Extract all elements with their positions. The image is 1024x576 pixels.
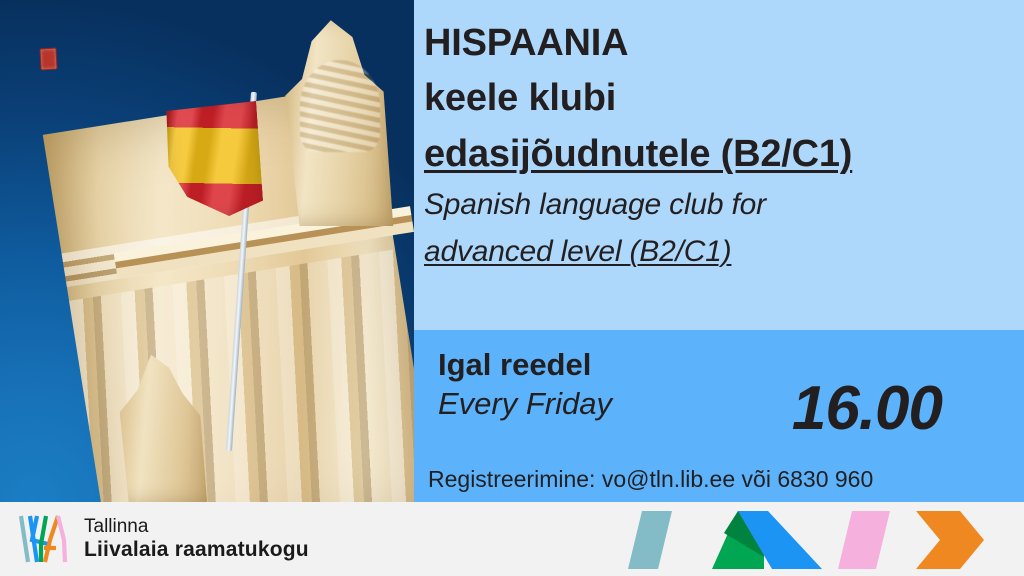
title-line-1: HISPAANIA xyxy=(424,16,1018,71)
when-english: Every Friday xyxy=(438,384,612,424)
when-estonian: Igal reedel xyxy=(438,346,612,384)
registration-info: Registreerimine: vo@tln.lib.ee või 6830 … xyxy=(428,466,873,493)
parallelogram-teal-shape xyxy=(628,511,672,569)
brand-shapes xyxy=(612,511,1012,569)
library-logo[interactable]: Tallinna Liivalaia raamatukogu xyxy=(14,510,309,568)
arrow-orange-shape xyxy=(916,511,984,569)
title-line-2: keele klubi xyxy=(424,71,1018,126)
schedule-panel: Igal reedel Every Friday 16.00 Registree… xyxy=(414,330,1024,502)
subtitle-line-2: advanced level (B2/C1) xyxy=(424,229,1018,276)
event-time: 16.00 xyxy=(792,378,942,440)
footer-bar: Tallinna Liivalaia raamatukogu xyxy=(0,502,1024,576)
parallelogram-pink-shape xyxy=(838,511,890,569)
subtitle-line-1: Spanish language club for xyxy=(424,182,1018,229)
poster-canvas: HISPAANIA keele klubi edasijõudnutele (B… xyxy=(0,0,1024,576)
tower-sculpture-detail xyxy=(300,60,380,152)
heading-block: HISPAANIA keele klubi edasijõudnutele (B… xyxy=(424,16,1018,275)
brand-shapes-svg xyxy=(612,511,1012,569)
when-block: Igal reedel Every Friday xyxy=(438,346,612,424)
title-line-3: edasijõudnutele (B2/C1) xyxy=(424,127,1018,182)
library-monogram-icon xyxy=(14,510,72,568)
flag-coat-of-arms xyxy=(39,48,57,71)
title-panel: HISPAANIA keele klubi edasijõudnutele (B… xyxy=(414,0,1024,330)
hero-photo xyxy=(0,0,414,502)
library-name-line-2: Liivalaia raamatukogu xyxy=(84,538,309,562)
library-name-line-1: Tallinna xyxy=(84,516,309,538)
library-logo-text: Tallinna Liivalaia raamatukogu xyxy=(84,516,309,562)
